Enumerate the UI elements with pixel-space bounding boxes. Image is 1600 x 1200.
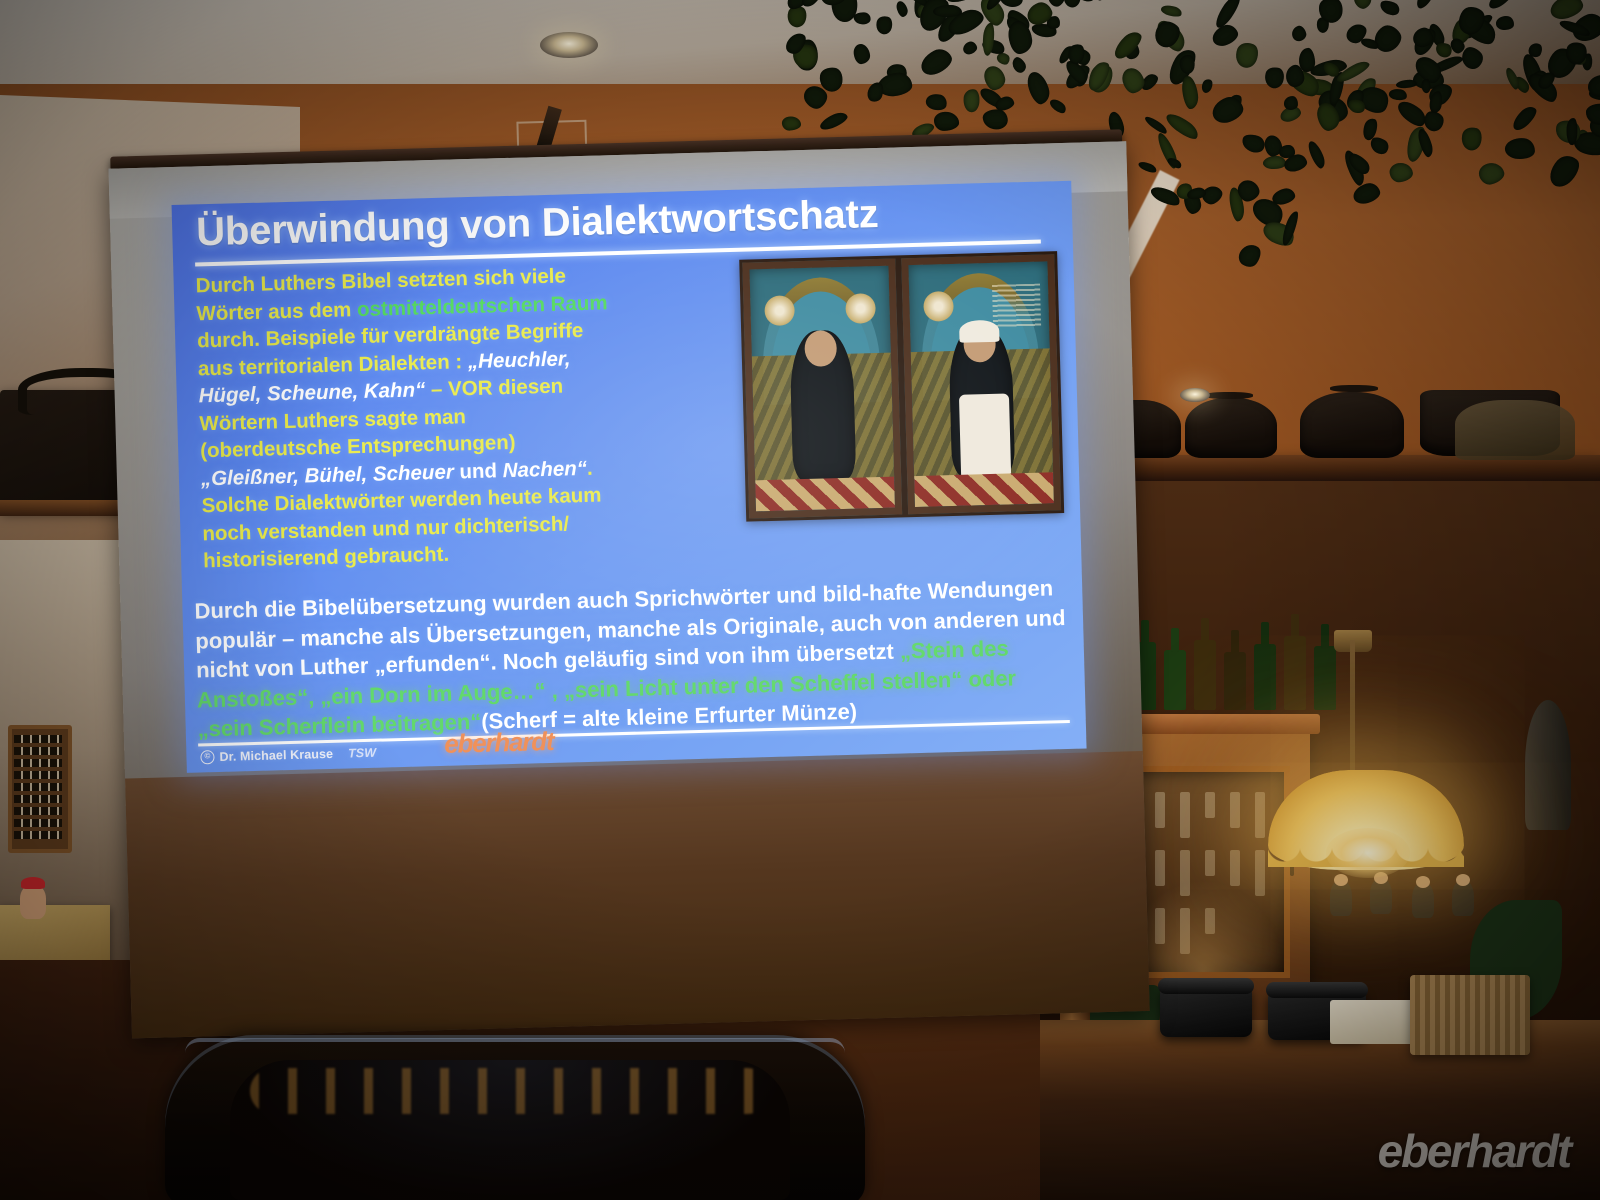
ceiling-spotlight-icon	[540, 32, 598, 58]
beer-bottle	[1284, 636, 1306, 710]
screen-lower-unlit	[125, 751, 1150, 1038]
slide-body-text: Durch die Bibelübersetzung wurden auch S…	[194, 573, 1070, 744]
pewter-jug	[1525, 700, 1571, 830]
figurine	[1370, 878, 1392, 914]
lamp-chain	[1350, 640, 1355, 772]
abacus-row	[14, 819, 62, 827]
presentation-slide: Überwindung von Dialektwortschatz Durch …	[172, 181, 1087, 773]
wicker-basket	[1410, 975, 1530, 1055]
abacus-row	[14, 759, 62, 767]
beer-bottle	[1254, 644, 1276, 710]
projection-screen: Überwindung von Dialektwortschatz Durch …	[62, 121, 1146, 1039]
beer-bottle	[1314, 646, 1336, 710]
photo-scene: Überwindung von Dialektwortschatz Durch …	[0, 0, 1600, 1200]
luther-portrait-diptych	[739, 251, 1064, 522]
drinking-glass	[1205, 792, 1215, 818]
chair-studs	[250, 1068, 770, 1114]
slide-credit: © Dr. Michael Krause TSW	[200, 746, 376, 765]
dried-flowers	[1455, 400, 1575, 460]
luther-head	[805, 330, 838, 367]
abacus-row	[14, 783, 62, 791]
portrait-panel-wife	[901, 254, 1061, 514]
figurine	[20, 885, 46, 919]
eberhardt-watermark: eberhardt	[1378, 1124, 1570, 1178]
medallion-rose-icon	[923, 291, 954, 322]
abacus-row	[14, 795, 62, 803]
white-cap	[959, 320, 1000, 343]
figurine	[1330, 880, 1352, 916]
credit-author: Dr. Michael Krause	[219, 747, 333, 764]
figurine	[1412, 882, 1434, 918]
drinking-glass	[1180, 792, 1190, 838]
white-apron	[959, 393, 1011, 477]
chair-rim-highlight	[185, 1038, 845, 1068]
portrait-panel-luther	[742, 259, 902, 519]
pot-lid	[1205, 392, 1253, 399]
beer-bottle	[1224, 652, 1246, 710]
lamp-bulb-glow	[1326, 828, 1410, 878]
abacus-row	[14, 771, 62, 779]
slide-column-text: Durch Luthers Bibel setzten sich viele W…	[195, 261, 615, 575]
copyright-icon: ©	[200, 750, 214, 764]
checkered-floor	[755, 476, 895, 511]
abacus-row	[14, 735, 62, 743]
beer-bottle	[1194, 640, 1216, 710]
checkered-floor	[914, 472, 1054, 507]
medallion-rose-icon	[845, 293, 876, 324]
copper-pot	[1300, 392, 1404, 458]
luther-figure	[789, 330, 857, 482]
figurine	[1452, 880, 1474, 916]
drinking-glass	[1255, 792, 1265, 838]
pot-lid	[1330, 385, 1378, 392]
abacus-row	[14, 807, 62, 815]
credit-org: TSW	[348, 746, 376, 761]
abacus-row	[14, 747, 62, 755]
copper-pot	[1185, 398, 1277, 458]
abacus	[8, 725, 72, 853]
telephone-handset	[1158, 978, 1254, 994]
telephone-handset	[1266, 982, 1368, 998]
abacus-row	[14, 831, 62, 839]
drinking-glass	[1205, 850, 1215, 876]
drinking-glass	[1155, 792, 1165, 828]
drinking-glass	[1230, 792, 1240, 828]
inscription-text	[992, 283, 1040, 328]
medallion-hand-icon	[764, 295, 795, 326]
ceiling-spotlight-icon	[1180, 388, 1210, 402]
eberhardt-logo: eberhardt	[444, 726, 554, 760]
beer-bottle	[1164, 650, 1186, 710]
